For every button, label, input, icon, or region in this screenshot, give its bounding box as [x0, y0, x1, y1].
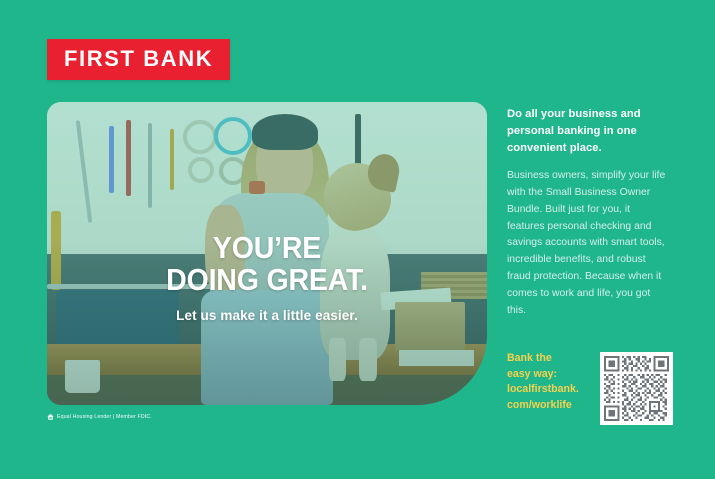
cta-url-line-2: com/worklife — [507, 398, 592, 414]
qr-code[interactable] — [600, 352, 673, 425]
advertisement-banner: FIRST BANK — [0, 0, 715, 479]
equal-housing-icon — [47, 414, 54, 420]
promo-column: Do all your business and personal bankin… — [507, 106, 667, 320]
hero-subhead: Let us make it a little easier. — [65, 308, 469, 323]
logo-text: FIRST BANK — [64, 48, 213, 70]
cta-block[interactable]: Bank the easy way: localfirstbank. com/w… — [507, 351, 592, 414]
first-bank-logo[interactable]: FIRST BANK — [47, 39, 230, 80]
promo-body: Business owners, simplify your life with… — [507, 168, 667, 320]
hero-photo: YOU’RE DOING GREAT. Let us make it a lit… — [47, 102, 487, 405]
cta-url-line-1: localfirstbank. — [507, 382, 592, 398]
hero-headline-line2: DOING GREAT. — [81, 264, 453, 296]
hero-copy: YOU’RE DOING GREAT. Let us make it a lit… — [47, 232, 487, 323]
cta-line-1: Bank the — [507, 351, 592, 367]
hero-headline-line1: YOU’RE — [81, 232, 453, 264]
qr-code-graphic — [604, 356, 669, 421]
disclosure-text: Equal Housing Lender | Member FDIC. — [57, 414, 152, 420]
disclosure: Equal Housing Lender | Member FDIC. — [47, 414, 152, 420]
cta-line-2: easy way: — [507, 367, 592, 383]
promo-heading: Do all your business and personal bankin… — [507, 106, 667, 157]
